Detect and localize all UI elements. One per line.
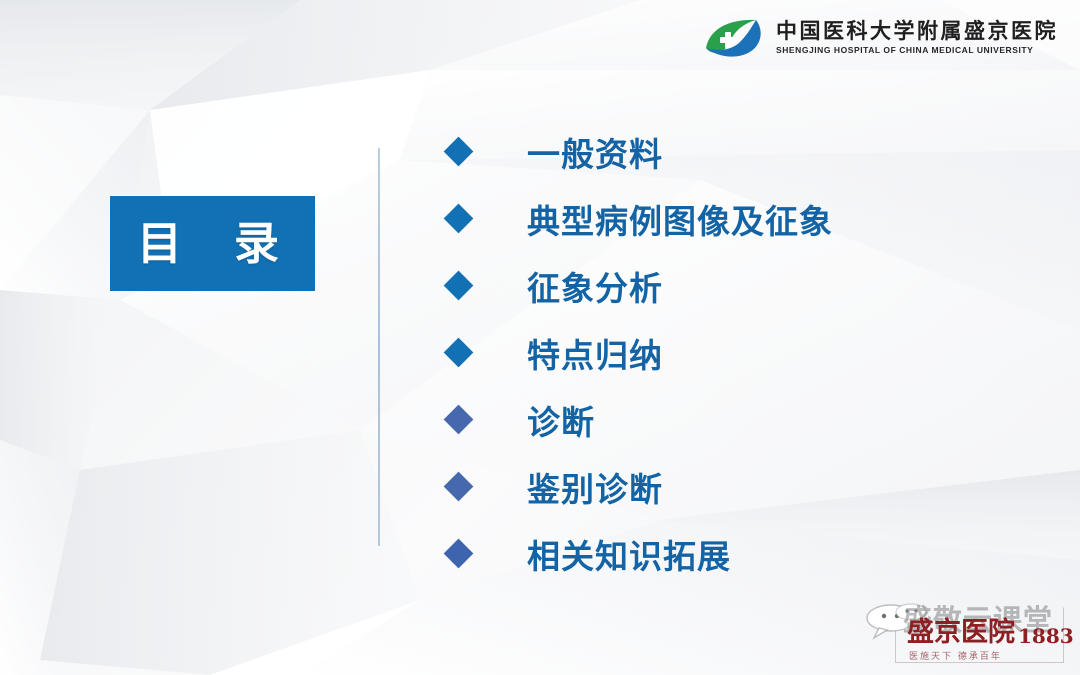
agenda-list: 一般资料 典型病例图像及征象 征象分析 特点归纳 诊断 鉴别诊断 相关知识拓展 — [448, 118, 1048, 587]
agenda-item-6[interactable]: 鉴别诊断 — [448, 453, 1048, 520]
page-title-block: 目 录 — [110, 196, 315, 291]
agenda-item-2[interactable]: 典型病例图像及征象 — [448, 185, 1048, 252]
agenda-item-label: 典型病例图像及征象 — [527, 195, 833, 243]
vertical-divider — [378, 148, 380, 546]
diamond-icon — [444, 271, 474, 301]
diamond-icon — [444, 204, 474, 234]
diamond-icon — [444, 539, 474, 569]
agenda-item-4[interactable]: 特点归纳 — [448, 319, 1048, 386]
watermark-brand-year: 1883 — [1018, 626, 1074, 646]
agenda-item-label: 征象分析 — [527, 262, 663, 310]
agenda-item-label: 诊断 — [527, 396, 595, 444]
diamond-icon — [444, 137, 474, 167]
leaf-cross-icon — [704, 18, 768, 58]
logo-wordmark: 中国医科大学附属盛京医院 SHENGJING HOSPITAL OF CHINA… — [776, 20, 1058, 57]
diamond-icon — [444, 405, 474, 435]
watermark-brand: 盛京医院 1883 — [907, 619, 1074, 646]
hospital-logo: 中国医科大学附属盛京医院 SHENGJING HOSPITAL OF CHINA… — [704, 18, 1058, 58]
agenda-item-7[interactable]: 相关知识拓展 — [448, 520, 1048, 587]
slide-canvas: 目 录 一般资料 典型病例图像及征象 征象分析 特点归纳 诊断 鉴别诊断 — [0, 0, 1080, 675]
agenda-item-label: 特点归纳 — [527, 329, 663, 377]
agenda-item-label: 一般资料 — [527, 128, 663, 176]
watermark-group: 盛敬云课堂 盛京医院 1883 医施天下 德承百年 — [851, 593, 1066, 671]
logo-name-en: SHENGJING HOSPITAL OF CHINA MEDICAL UNIV… — [776, 45, 1058, 56]
agenda-item-5[interactable]: 诊断 — [448, 386, 1048, 453]
logo-name-cn: 中国医科大学附属盛京医院 — [776, 20, 1058, 44]
watermark-tagline: 医施天下 德承百年 — [909, 649, 1002, 662]
agenda-item-label: 相关知识拓展 — [527, 530, 731, 578]
page-title: 目 录 — [137, 221, 288, 266]
agenda-item-3[interactable]: 征象分析 — [448, 252, 1048, 319]
agenda-item-label: 鉴别诊断 — [527, 463, 663, 511]
diamond-icon — [444, 338, 474, 368]
agenda-item-1[interactable]: 一般资料 — [448, 118, 1048, 185]
watermark-brand-name: 盛京医院 — [907, 619, 1015, 646]
diamond-icon — [444, 472, 474, 502]
